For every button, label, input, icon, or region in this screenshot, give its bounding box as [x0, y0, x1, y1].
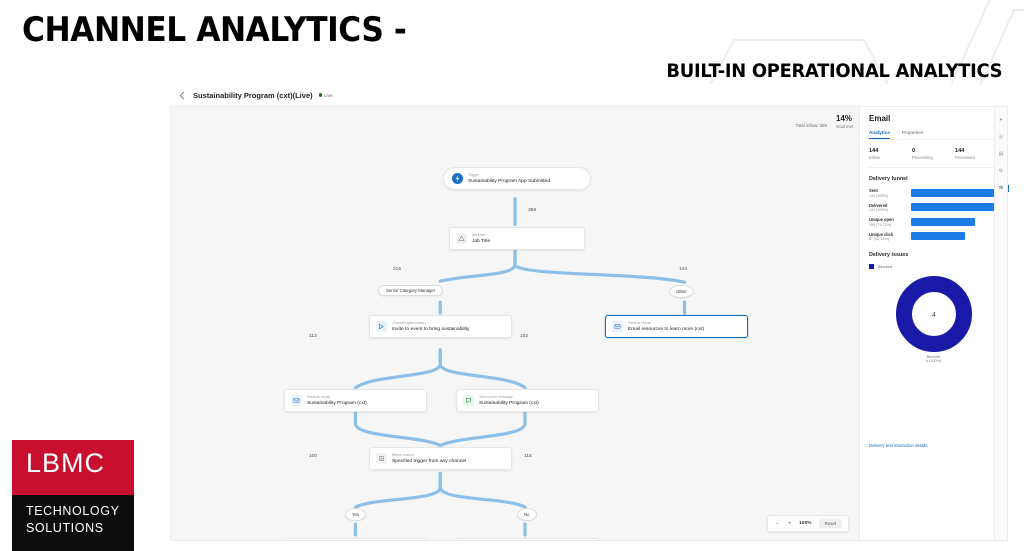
stat-processing: 0 Processing	[912, 148, 955, 160]
logo-brand-block: LBMC	[12, 440, 134, 495]
slide-subtitle: BUILT-IN OPERATIONAL ANALYTICS	[666, 60, 1002, 82]
edge-count-yes: 100	[309, 454, 317, 459]
email-icon[interactable]: ✉	[997, 184, 1005, 192]
node-attribute[interactable]: Attribute Job Title	[449, 227, 585, 250]
funnel-row-unique-click: Unique click 87 (62.14%)	[869, 232, 998, 242]
branch-icon	[376, 453, 387, 464]
stat-inflow-label: Inflow	[869, 155, 912, 160]
funnel-delivered-value: 144 (100%)	[869, 208, 911, 212]
tab-analytics[interactable]: Analytics	[869, 130, 890, 139]
panel-title: Email	[869, 114, 890, 123]
settings-icon[interactable]: ⚙	[997, 167, 1005, 175]
node-email-resources[interactable]: Send an email Email resources to learn m…	[605, 315, 748, 338]
chip-other[interactable]: Other	[669, 285, 694, 298]
edge-count-email: 113	[309, 334, 317, 339]
back-arrow-icon[interactable]	[178, 91, 187, 100]
funnel-click-name: Unique click	[869, 232, 911, 237]
node-email-sustainability[interactable]: Send an email Sustainability Program (cx…	[284, 389, 427, 412]
funnel-click-value: 87 (62.14%)	[869, 237, 911, 241]
funnel-row-delivered: Delivered 144 (100%)	[869, 203, 998, 213]
send-icon[interactable]: ➤	[997, 116, 1005, 124]
node-trigger-sub: Trigger	[468, 173, 479, 177]
zoom-in-button[interactable]: +	[787, 521, 793, 527]
node-email-resources-sub: Send an email	[628, 321, 651, 325]
donut-svg: 4	[896, 276, 972, 352]
node-channel-title: Invite to event to bring sustainability	[392, 327, 469, 332]
node-email-resources-title: Email resources to learn more (cxt)	[628, 327, 704, 332]
channel-optimization-icon	[376, 321, 387, 332]
edge-count-other: 144	[679, 267, 687, 272]
node-text-sustainability[interactable]: Send a text message Sustainability Progr…	[456, 389, 599, 412]
zoom-out-button[interactable]: −	[774, 521, 780, 527]
node-attribute-sub: Attribute	[472, 233, 485, 237]
status-badge: Live	[319, 93, 333, 98]
node-email-post-attendance[interactable]: Send an email Post Attendance Email (cxt…	[284, 538, 427, 541]
logo-tagline-line2: SOLUTIONS	[26, 518, 134, 535]
stat-processing-value: 0	[912, 148, 955, 154]
funnel-open-name: Unique open	[869, 217, 911, 222]
funnel-open-bar	[911, 218, 975, 226]
app-title: Sustainability Program (cxt)(Live)	[193, 91, 313, 100]
panel-stats-row: 144 Inflow 0 Processing 144 Processed	[869, 148, 998, 168]
node-email-sp-title: Sustainability Program (cxt)	[307, 401, 367, 406]
chip-senior-category-manager[interactable]: Senior Category Manager	[378, 285, 443, 296]
stat-inflow: 144 Inflow	[869, 148, 912, 160]
delivery-issues-title: Delivery issues	[869, 252, 998, 258]
email-icon	[612, 321, 623, 332]
tab-properties[interactable]: Properties	[902, 130, 923, 139]
node-text-sp-sub: Send a text message	[479, 395, 513, 399]
funnel-row-sent: Sent 144 (100%)	[869, 188, 998, 198]
zoom-reset-button[interactable]: Reset	[819, 519, 842, 528]
funnel-sent-bar	[911, 189, 998, 197]
funnel-row-unique-open: Unique open 106 (73.71%)	[869, 217, 998, 227]
delivery-funnel-title: Delivery funnel	[869, 176, 998, 182]
panel-icon-rail: ➤ ◎ ▤ ⚙ ✉	[994, 107, 1007, 540]
node-channel-optimization[interactable]: Channel optimization Invite to event to …	[369, 315, 512, 338]
node-attribute-title: Job Title	[472, 239, 490, 244]
zoom-controls[interactable]: − + 100% Reset	[767, 515, 849, 532]
node-ifthen-branch[interactable]: If/then branch Specified trigger from an…	[369, 447, 512, 470]
slide-title: CHANNEL ANALYTICS -	[22, 10, 406, 50]
node-channel-sub: Channel optimization	[392, 321, 426, 325]
node-text-sp-title: Sustainability Program (cxt)	[479, 401, 539, 406]
donut-center-value: 4	[932, 312, 936, 319]
chip-no[interactable]: No	[517, 508, 537, 521]
legend-swatch-blocked	[869, 264, 874, 269]
donut-caption: Blocked 4 (100%)	[926, 355, 941, 363]
stat-processed-label: Processed	[955, 155, 998, 160]
donut-caption-value: 4 (100%)	[926, 359, 941, 363]
node-ifthen-sub: If/then branch	[392, 453, 414, 457]
issues-legend: Blocked	[869, 264, 998, 269]
node-trigger[interactable]: Trigger Sustainability Program App Submi…	[443, 167, 591, 190]
details-panel: Email ✎ Analytics Properties 144 Inflow …	[860, 106, 1008, 541]
funnel-click-bar	[911, 232, 965, 240]
blocked-donut-chart: 4 Blocked 4 (100%)	[869, 276, 998, 363]
lightning-icon	[452, 173, 463, 184]
legend-label-blocked: Blocked	[878, 264, 892, 269]
journey-canvas[interactable]: Total inflow: 359 14% Goal met	[170, 106, 860, 541]
status-dot-icon	[319, 93, 322, 96]
logo-brand-text: LBMC	[26, 448, 105, 479]
layers-icon[interactable]: ▤	[997, 150, 1005, 158]
stat-inflow-value: 144	[869, 148, 912, 154]
funnel-sent-name: Sent	[869, 188, 911, 193]
node-trigger-title: Sustainability Program App Submitted	[468, 179, 550, 184]
node-ifthen-title: Specified trigger from any channel	[392, 459, 466, 464]
target-icon[interactable]: ◎	[997, 133, 1005, 141]
stat-processing-label: Processing	[912, 155, 955, 160]
stat-processed: 144 Processed	[955, 148, 998, 160]
app-topbar: Sustainability Program (cxt)(Live) Live	[170, 84, 1008, 106]
app-screenshot: Sustainability Program (cxt)(Live) Live …	[170, 84, 1008, 541]
status-label: Live	[324, 93, 332, 98]
funnel-delivered-name: Delivered	[869, 203, 911, 208]
logo-tagline-line1: TECHNOLOGY	[26, 495, 134, 518]
node-email-we-missed-you[interactable]: Send an email We missed you! (cxt)	[456, 538, 599, 541]
funnel-delivered-bar	[911, 203, 998, 211]
node-email-sp-sub: Send an email	[307, 395, 330, 399]
edge-count-senior: 215	[393, 267, 401, 272]
chip-yes[interactable]: Yes	[345, 508, 366, 521]
panel-tabs: Analytics Properties	[869, 130, 998, 140]
edge-count-text: 102	[520, 334, 528, 339]
funnel-sent-value: 144 (100%)	[869, 194, 911, 198]
stat-processed-value: 144	[955, 148, 998, 154]
attribute-icon	[456, 233, 467, 244]
logo-tagline-block: TECHNOLOGY SOLUTIONS	[12, 495, 134, 551]
email-icon	[291, 395, 302, 406]
edge-count-trigger: 359	[528, 208, 536, 213]
panel-header: Email ✎	[869, 114, 998, 123]
edge-count-no: 115	[524, 454, 532, 459]
lbmc-logo: LBMC TECHNOLOGY SOLUTIONS	[12, 440, 134, 551]
zoom-level-value: 100%	[799, 521, 811, 526]
text-message-icon	[463, 395, 474, 406]
funnel-open-value: 106 (73.71%)	[869, 223, 911, 227]
delivery-details-link[interactable]: Delivery and interaction details	[869, 443, 928, 448]
